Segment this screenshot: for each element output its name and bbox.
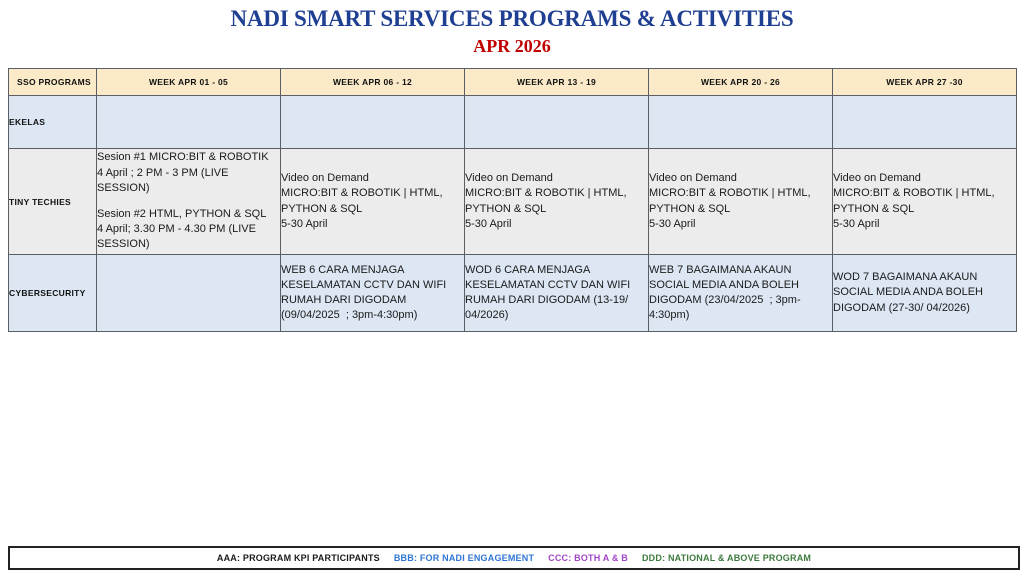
- cell-tiny-techies-week-1: Sesion #1 MICRO:BIT & ROBOTIK 4 April ; …: [97, 149, 281, 255]
- legend-item-ddd: DDD: NATIONAL & ABOVE PROGRAM: [642, 553, 811, 563]
- cell-cybersecurity-week-5: WOD 7 BAGAIMANA AKAUN SOCIAL MEDIA ANDA …: [833, 255, 1017, 332]
- cell-cybersecurity-week-2: WEB 6 CARA MENJAGA KESELAMATAN CCTV DAN …: [281, 255, 465, 332]
- row-label-cybersecurity: CYBERSECURITY: [9, 255, 97, 332]
- table-row: TINY TECHIES Sesion #1 MICRO:BIT & ROBOT…: [9, 149, 1017, 255]
- cell-text: WEB 7 BAGAIMANA AKAUN SOCIAL MEDIA ANDA …: [649, 263, 832, 324]
- row-label-ekelas: EKELAS: [9, 96, 97, 149]
- cell-text: Video on Demand MICRO:BIT & ROBOTIK | HT…: [833, 171, 1016, 232]
- cell-tiny-techies-week-4: Video on Demand MICRO:BIT & ROBOTIK | HT…: [649, 149, 833, 255]
- column-header-week-2: WEEK APR 06 - 12: [281, 69, 465, 96]
- cell-cybersecurity-week-4: WEB 7 BAGAIMANA AKAUN SOCIAL MEDIA ANDA …: [649, 255, 833, 332]
- cell-ekelas-week-5: [833, 96, 1017, 149]
- cell-ekelas-week-1: [97, 96, 281, 149]
- cell-text: WOD 6 CARA MENJAGA KESELAMATAN CCTV DAN …: [465, 263, 648, 324]
- legend-items: AAA: PROGRAM KPI PARTICIPANTS BBB: FOR N…: [217, 553, 811, 563]
- column-header-week-4: WEEK APR 20 - 26: [649, 69, 833, 96]
- cell-spacer: [97, 196, 280, 207]
- cell-tiny-techies-week-3: Video on Demand MICRO:BIT & ROBOTIK | HT…: [465, 149, 649, 255]
- column-header-week-1: WEEK APR 01 - 05: [97, 69, 281, 96]
- cell-cybersecurity-week-3: WOD 6 CARA MENJAGA KESELAMATAN CCTV DAN …: [465, 255, 649, 332]
- cell-text: WOD 7 BAGAIMANA AKAUN SOCIAL MEDIA ANDA …: [833, 270, 1016, 316]
- cell-ekelas-week-2: [281, 96, 465, 149]
- row-label-tiny-techies: TINY TECHIES: [9, 149, 97, 255]
- cell-text: Video on Demand MICRO:BIT & ROBOTIK | HT…: [465, 171, 648, 232]
- page-subtitle: APR 2026: [0, 36, 1024, 58]
- legend-footer: AAA: PROGRAM KPI PARTICIPANTS BBB: FOR N…: [8, 546, 1020, 570]
- legend-item-bbb: BBB: FOR NADI ENGAGEMENT: [394, 553, 534, 563]
- column-header-sso-programs: SSO PROGRAMS: [9, 69, 97, 96]
- cell-text-session-2: Sesion #2 HTML, PYTHON & SQL 4 April; 3.…: [97, 207, 280, 253]
- table-header-row: SSO PROGRAMS WEEK APR 01 - 05 WEEK APR 0…: [9, 69, 1017, 96]
- legend-item-aaa: AAA: PROGRAM KPI PARTICIPANTS: [217, 553, 380, 563]
- page-title: NADI SMART SERVICES PROGRAMS & ACTIVITIE…: [0, 6, 1024, 32]
- cell-ekelas-week-4: [649, 96, 833, 149]
- legend-item-ccc: CCC: BOTH A & B: [548, 553, 628, 563]
- cell-text: Video on Demand MICRO:BIT & ROBOTIK | HT…: [649, 171, 832, 232]
- schedule-table: SSO PROGRAMS WEEK APR 01 - 05 WEEK APR 0…: [8, 68, 1017, 332]
- cell-tiny-techies-week-2: Video on Demand MICRO:BIT & ROBOTIK | HT…: [281, 149, 465, 255]
- schedule-table-container: SSO PROGRAMS WEEK APR 01 - 05 WEEK APR 0…: [8, 68, 1016, 332]
- column-header-week-5: WEEK APR 27 -30: [833, 69, 1017, 96]
- cell-ekelas-week-3: [465, 96, 649, 149]
- cell-text-session-1: Sesion #1 MICRO:BIT & ROBOTIK 4 April ; …: [97, 150, 280, 196]
- cell-tiny-techies-week-5: Video on Demand MICRO:BIT & ROBOTIK | HT…: [833, 149, 1017, 255]
- column-header-week-3: WEEK APR 13 - 19: [465, 69, 649, 96]
- cell-text: WEB 6 CARA MENJAGA KESELAMATAN CCTV DAN …: [281, 263, 464, 324]
- table-row: CYBERSECURITY WEB 6 CARA MENJAGA KESELAM…: [9, 255, 1017, 332]
- cell-text: Video on Demand MICRO:BIT & ROBOTIK | HT…: [281, 171, 464, 232]
- table-row: EKELAS: [9, 96, 1017, 149]
- cell-cybersecurity-week-1: [97, 255, 281, 332]
- page-header: NADI SMART SERVICES PROGRAMS & ACTIVITIE…: [0, 0, 1024, 58]
